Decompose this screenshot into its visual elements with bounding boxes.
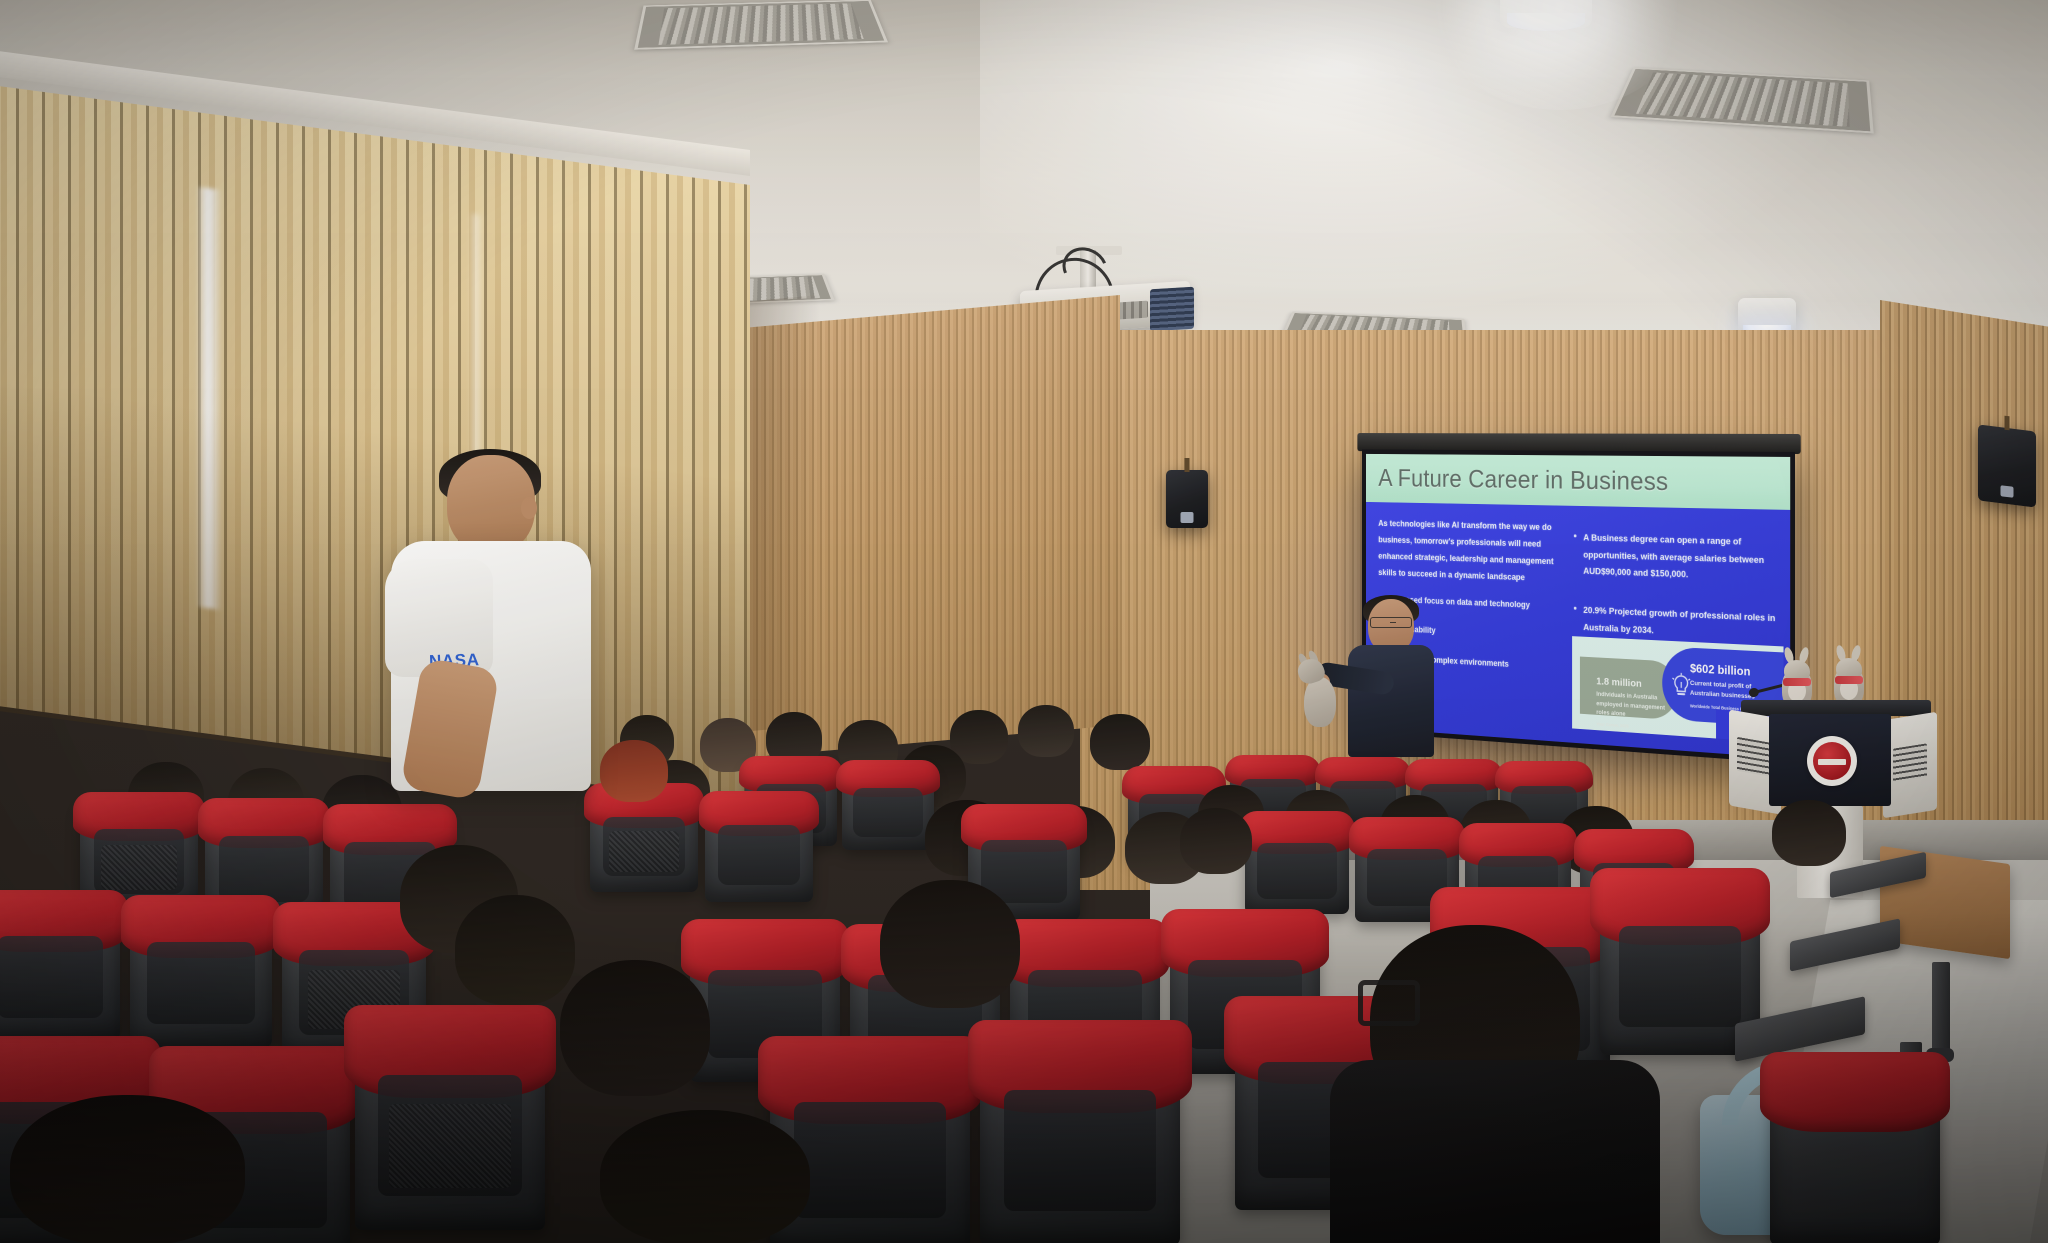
audience-head xyxy=(1090,714,1150,770)
audience-head xyxy=(560,960,710,1096)
seat[interactable] xyxy=(1245,818,1349,914)
slide-right-bullets: A Business degree can open a range of op… xyxy=(1572,529,1776,644)
student-ear xyxy=(521,497,537,519)
ceiling-hvac-vent xyxy=(634,0,888,50)
seat[interactable] xyxy=(355,1020,545,1230)
slide-title: A Future Career in Business xyxy=(1378,464,1668,497)
slide-bullet: A Business degree can open a range of op… xyxy=(1572,529,1776,586)
stat-value: 1.8 million xyxy=(1596,675,1668,691)
audience-head xyxy=(10,1095,245,1243)
presenter xyxy=(1330,595,1442,755)
audience-head xyxy=(1180,808,1252,874)
seat[interactable] xyxy=(130,905,272,1047)
presenter-torso xyxy=(1348,645,1434,757)
slide-paragraph: As technologies like AI transform the wa… xyxy=(1378,516,1556,588)
ceiling-downlight xyxy=(1500,0,1592,28)
seat-leg xyxy=(1932,962,1950,1058)
university-crest-logo xyxy=(1807,736,1857,786)
audience-head xyxy=(1018,705,1074,757)
wall-speaker-left xyxy=(1166,470,1208,528)
stat-description: Individuals in Australia employed in man… xyxy=(1596,690,1668,723)
lecture-hall-photo: A Future Career in Business As technolog… xyxy=(0,0,2048,1243)
stat-value: $602 billion xyxy=(1690,661,1772,679)
glasses-icon xyxy=(1370,617,1412,628)
wall-speaker-right xyxy=(1978,424,2036,507)
seat[interactable] xyxy=(980,1035,1180,1243)
seat[interactable] xyxy=(705,798,813,902)
audience-head xyxy=(455,895,575,1005)
audience-head xyxy=(880,880,1020,1008)
audience-head xyxy=(1772,800,1846,866)
kangaroo-plush-right xyxy=(1827,650,1871,706)
audience-head xyxy=(600,1110,810,1243)
lectern-side-panel xyxy=(1883,712,1937,819)
seat[interactable] xyxy=(1770,1065,1940,1243)
stat-source: Your Career, 2025 xyxy=(1596,722,1668,732)
seat[interactable] xyxy=(0,900,120,1040)
lightbulb-icon xyxy=(1668,671,1693,700)
glasses-icon xyxy=(1358,980,1420,1026)
audience-head xyxy=(600,740,668,802)
kangaroo-plush-held xyxy=(1296,655,1344,733)
projector-lens xyxy=(1150,287,1194,332)
standing-student: NASA xyxy=(395,455,610,810)
seat[interactable] xyxy=(842,766,934,850)
slide-title-band: A Future Career in Business xyxy=(1366,454,1790,510)
audience-torso xyxy=(1330,1060,1660,1243)
